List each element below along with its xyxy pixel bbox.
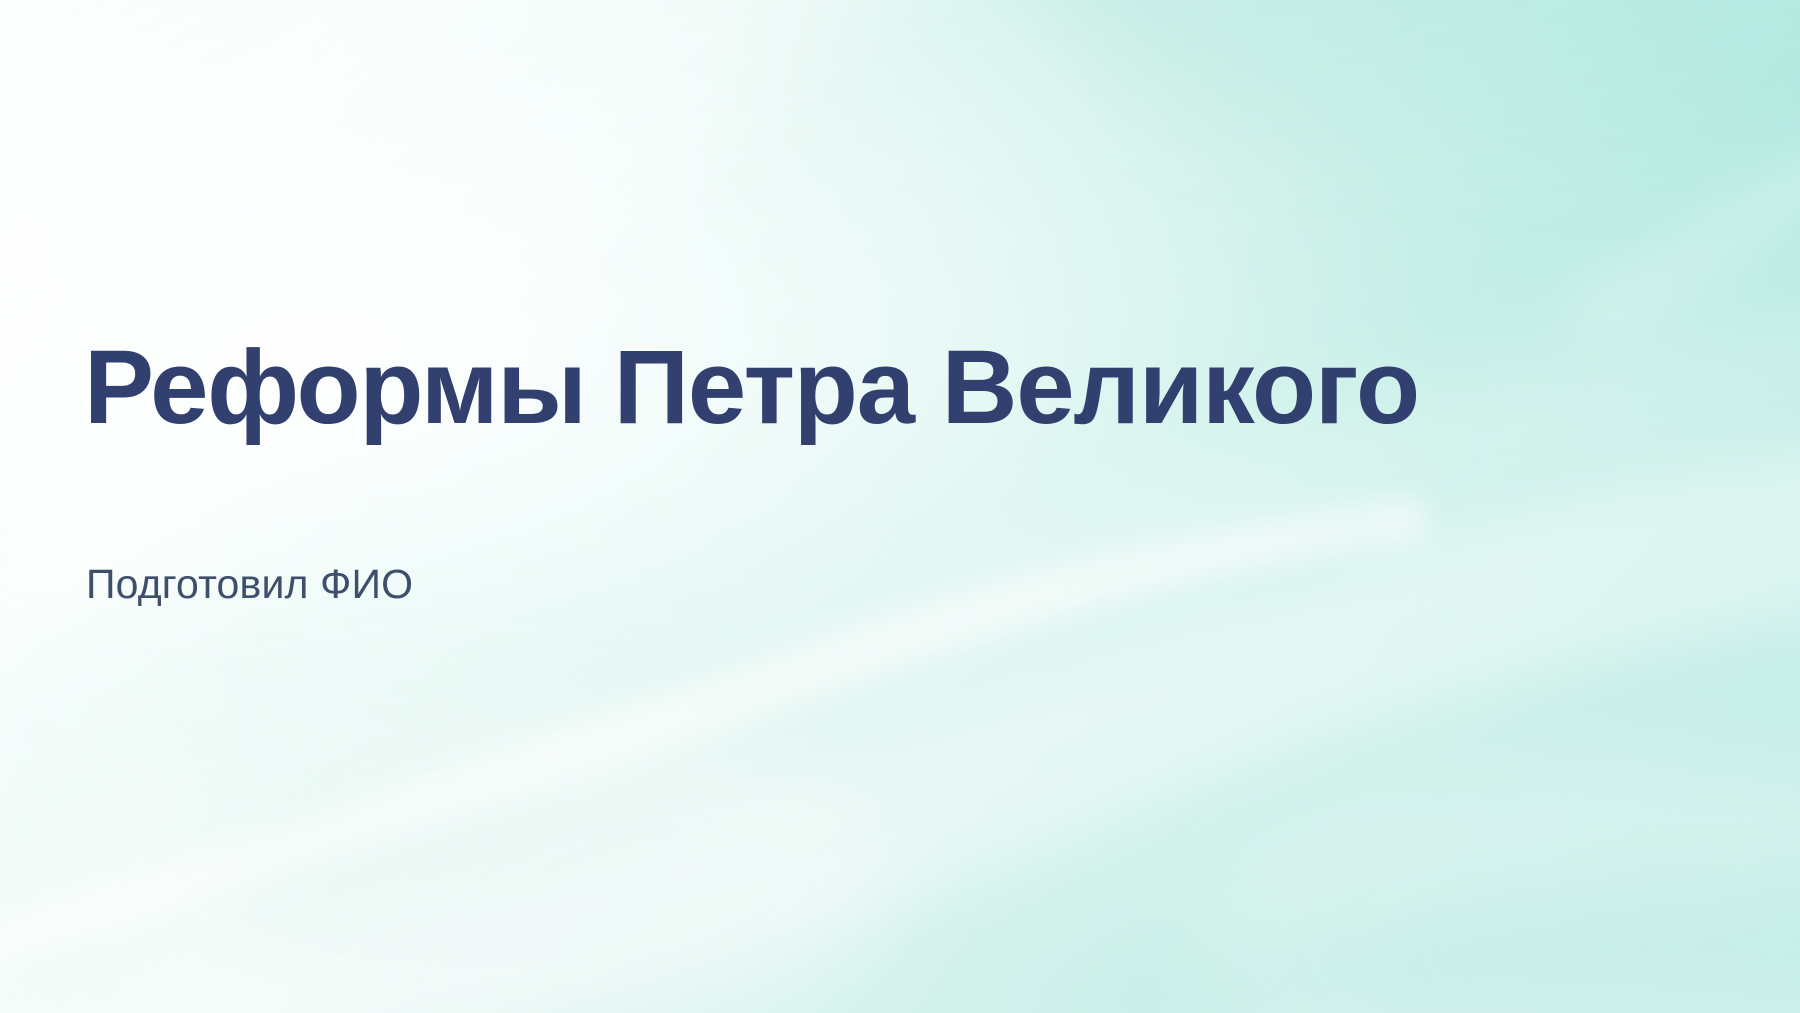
slide-subtitle: Подготовил ФИО <box>86 560 413 609</box>
page-title: Реформы Петра Великого <box>84 332 1419 443</box>
slide-text-block: Реформы Петра Великого Подготовил ФИО <box>84 0 1744 1013</box>
title-slide: Реформы Петра Великого Подготовил ФИО <box>0 0 1800 1013</box>
